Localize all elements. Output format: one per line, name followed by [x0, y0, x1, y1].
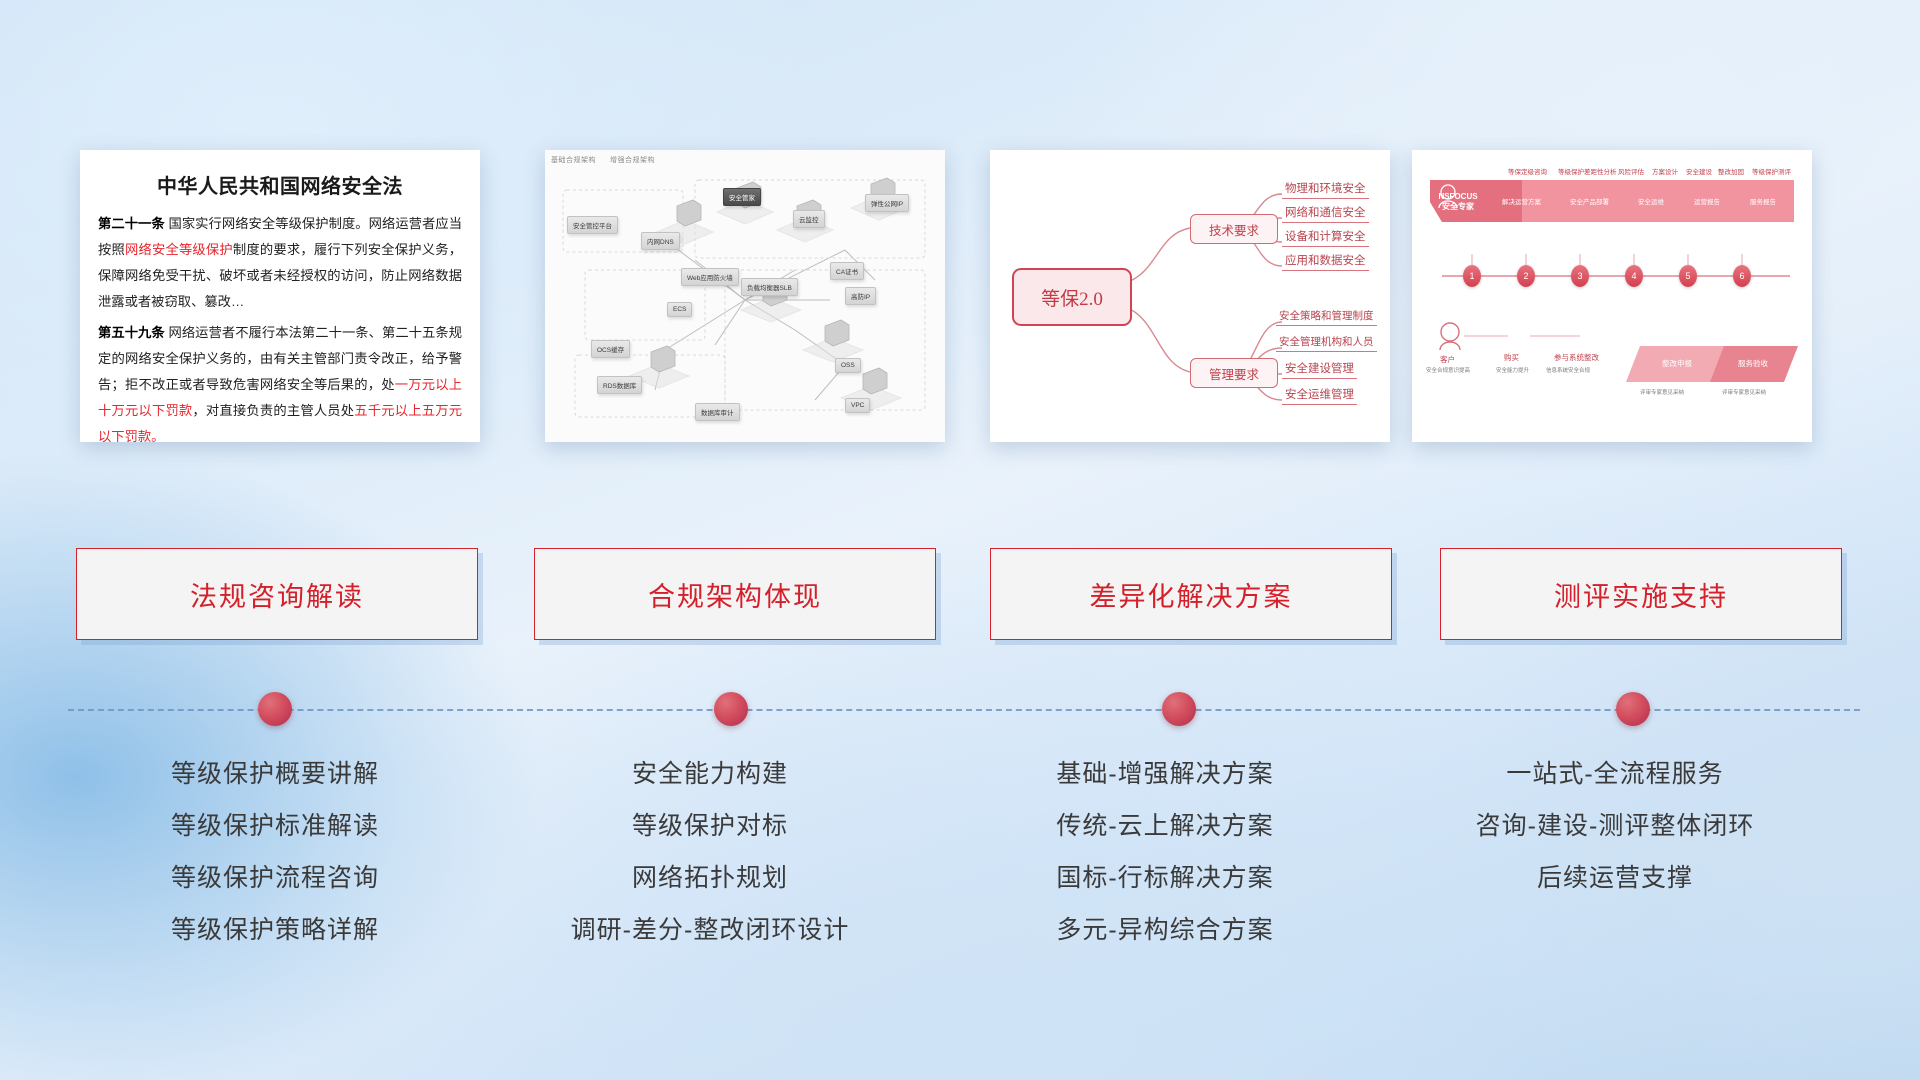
mindmap-leaf-tech-1: 物理和环境安全: [1282, 180, 1369, 199]
node-ocs-cache: OCS缓存: [591, 340, 630, 358]
list-item: 网络拓扑规划: [495, 852, 925, 904]
nsfocus-step-5: 5: [1679, 265, 1697, 287]
article-21-highlight: 网络安全等级保护: [125, 242, 233, 257]
stage-label-4[interactable]: 测评实施支持: [1440, 548, 1842, 640]
list-item: 安全能力构建: [495, 748, 925, 800]
process-timeline: [0, 690, 1920, 730]
nsfocus-step-4: 4: [1625, 265, 1643, 287]
nsfocus-brand-name: NSFOCUS: [1438, 192, 1477, 201]
law-title: 中华人民共和国网络安全法: [98, 170, 462, 199]
node-anti-ddos-ip: 高防IP: [845, 287, 876, 305]
law-text-card[interactable]: 中华人民共和国网络安全法 第二十一条 国家实行网络安全等级保护制度。网络运营者应…: [80, 150, 480, 442]
list-item: 等级保护流程咨询: [60, 852, 490, 904]
nsfocus-bottom-item-1: 购买: [1504, 352, 1519, 363]
nsfocus-top-label-4: 方案设计: [1652, 166, 1678, 176]
node-rds: RDS数据库: [597, 376, 642, 394]
mindmap-leaf-tech-4: 应用和数据安全: [1282, 252, 1369, 271]
nsfocus-step-1: 1: [1463, 265, 1481, 287]
node-vpc: VPC: [845, 398, 870, 413]
nsfocus-top-label-1: 等保定级咨询: [1508, 166, 1547, 176]
nsfocus-banner-item-1: 解决运营方案: [1502, 196, 1541, 206]
stage-label-2[interactable]: 合规架构体现: [534, 548, 936, 640]
stage-4-items: 一站式-全流程服务 咨询-建设-测评整体闭环 后续运营支撑: [1400, 748, 1830, 904]
list-item: 传统-云上解决方案: [950, 800, 1380, 852]
stage-labels-row: 法规咨询解读 合规架构体现 差异化解决方案 测评实施支持: [0, 548, 1920, 642]
list-item: 基础-增强解决方案: [950, 748, 1380, 800]
nsfocus-brand-sub: 安全专家: [1442, 202, 1474, 211]
node-security-steward: 安全管家: [723, 188, 761, 206]
nsfocus-customer-label: 客户: [1440, 354, 1455, 365]
stage-2-items: 安全能力构建 等级保护对标 网络拓扑规划 调研-差分-整改闭环设计: [495, 748, 925, 956]
nsfocus-step-3: 3: [1571, 265, 1589, 287]
list-item: 一站式-全流程服务: [1400, 748, 1830, 800]
nsfocus-bottom-note-1: 安全能力提升: [1496, 366, 1529, 374]
timeline-dashed-line: [68, 709, 1860, 711]
node-elastic-ip: 弹性公网IP: [865, 194, 909, 212]
nsfocus-top-label-5: 安全建设: [1686, 166, 1712, 176]
nsfocus-bottom-note-3: 评审专家意见采纳: [1640, 388, 1684, 396]
timeline-dot-2[interactable]: [714, 692, 748, 726]
nsfocus-banner-item-4: 运营报告: [1694, 196, 1720, 206]
article-21-label: 第二十一条: [98, 216, 165, 231]
nsfocus-banner-item-3: 安全运维: [1638, 196, 1664, 206]
stage-1-items: 等级保护概要讲解 等级保护标准解读 等级保护流程咨询 等级保护策略详解: [60, 748, 490, 956]
mindmap-leaf-mgmt-1: 安全策略和管理制度: [1276, 308, 1377, 326]
article-59-text-b: ，对直接负责的主管人员处: [192, 403, 354, 418]
architecture-diagram: 基础合规架构增强合规架构: [545, 150, 945, 442]
nsfocus-top-label-3: 风险评估: [1618, 166, 1644, 176]
nsfocus-bottom-note-2: 信息系统安全合规: [1546, 366, 1590, 374]
nsfocus-top-label-7: 等级保护测评: [1752, 166, 1791, 176]
node-ecs: ECS: [667, 302, 692, 317]
slide-canvas: 中华人民共和国网络安全法 第二十一条 国家实行网络安全等级保护制度。网络运营者应…: [0, 0, 1920, 1080]
list-item: 调研-差分-整改闭环设计: [495, 904, 925, 956]
node-cloud-monitor: 云监控: [793, 210, 825, 228]
nsfocus-banner-item-5: 服务报告: [1750, 196, 1776, 206]
law-body: 中华人民共和国网络安全法 第二十一条 国家实行网络安全等级保护制度。网络运营者应…: [80, 150, 480, 442]
stage-label-3[interactable]: 差异化解决方案: [990, 548, 1392, 640]
nsfocus-bottom-note-4: 评审专家意见采纳: [1722, 388, 1766, 396]
cloud-architecture-card[interactable]: 基础合规架构增强合规架构: [545, 150, 945, 442]
node-oss: OSS: [835, 358, 861, 373]
list-item: 多元-异构综合方案: [950, 904, 1380, 956]
stage-detail-columns: 等级保护概要讲解 等级保护标准解读 等级保护流程咨询 等级保护策略详解 安全能力…: [0, 748, 1920, 998]
node-slb: 负载均衡器SLB: [741, 278, 798, 296]
nsfocus-top-label-6: 整改加固: [1718, 166, 1744, 176]
mindmap-leaf-tech-3: 设备和计算安全: [1282, 228, 1369, 247]
node-waf: Web应用防火墙: [681, 268, 739, 286]
node-ca-cert: CA证书: [830, 262, 864, 280]
mindmap-body: 等保2.0 技术要求 管理要求 物理和环境安全 网络和通信安全 设备和计算安全 …: [990, 150, 1390, 442]
timeline-dot-4[interactable]: [1616, 692, 1650, 726]
nsfocus-step-6: 6: [1733, 265, 1751, 287]
mindmap-branch-management: 管理要求: [1190, 358, 1278, 388]
mindmap-leaf-mgmt-4: 安全运维管理: [1282, 386, 1357, 405]
nsfocus-brand: NSFOCUS 安全专家: [1430, 192, 1486, 212]
law-article-21: 第二十一条 国家实行网络安全等级保护制度。网络运营者应当按照网络安全等级保护制度…: [98, 211, 462, 315]
stage-3-items: 基础-增强解决方案 传统-云上解决方案 国标-行标解决方案 多元-异构综合方案: [950, 748, 1380, 956]
node-security-control-platform: 安全管控平台: [567, 216, 618, 234]
nsfocus-top-label-2: 等级保护差距性分析: [1558, 166, 1617, 176]
law-article-59: 第五十九条 网络运营者不履行本法第二十一条、第二十五条规定的网络安全保护义务的，…: [98, 320, 462, 442]
nsfocus-customer-sub: 安全合规意识提高: [1426, 366, 1470, 374]
mindmap-leaf-mgmt-2: 安全管理机构和人员: [1276, 334, 1377, 352]
node-internal-dns: 内网DNS: [641, 232, 680, 250]
nsfocus-body: NSFOCUS 安全专家 等保定级咨询 等级保护差距性分析 风险评估 方案设计 …: [1412, 150, 1812, 442]
list-item: 等级保护策略详解: [60, 904, 490, 956]
mindmap-leaf-mgmt-3: 安全建设管理: [1282, 360, 1357, 379]
nsfocus-bottom-item-4: 服务验收: [1738, 358, 1768, 369]
mindmap-leaf-tech-2: 网络和通信安全: [1282, 204, 1369, 223]
stage-label-1[interactable]: 法规咨询解读: [76, 548, 478, 640]
nsfocus-step-2: 2: [1517, 265, 1535, 287]
list-item: 等级保护对标: [495, 800, 925, 852]
list-item: 等级保护标准解读: [60, 800, 490, 852]
nsfocus-banner-item-2: 安全产品部署: [1570, 196, 1609, 206]
mindmap-root: 等保2.0: [1012, 268, 1132, 326]
list-item: 咨询-建设-测评整体闭环: [1400, 800, 1830, 852]
nsfocus-bottom-item-2: 参与系统整改: [1554, 352, 1599, 363]
article-59-label: 第五十九条: [98, 325, 165, 340]
nsfocus-bottom-item-3: 整改申报: [1662, 358, 1692, 369]
dengbao-mindmap-card[interactable]: 等保2.0 技术要求 管理要求 物理和环境安全 网络和通信安全 设备和计算安全 …: [990, 150, 1390, 442]
timeline-dot-1[interactable]: [258, 692, 292, 726]
nsfocus-timeline-card[interactable]: NSFOCUS 安全专家 等保定级咨询 等级保护差距性分析 风险评估 方案设计 …: [1412, 150, 1812, 442]
list-item: 后续运营支撑: [1400, 852, 1830, 904]
node-db-audit: 数据库审计: [695, 403, 740, 421]
preview-cards-row: 中华人民共和国网络安全法 第二十一条 国家实行网络安全等级保护制度。网络运营者应…: [0, 150, 1920, 450]
list-item: 国标-行标解决方案: [950, 852, 1380, 904]
timeline-dot-3[interactable]: [1162, 692, 1196, 726]
list-item: 等级保护概要讲解: [60, 748, 490, 800]
mindmap-branch-technical: 技术要求: [1190, 214, 1278, 244]
